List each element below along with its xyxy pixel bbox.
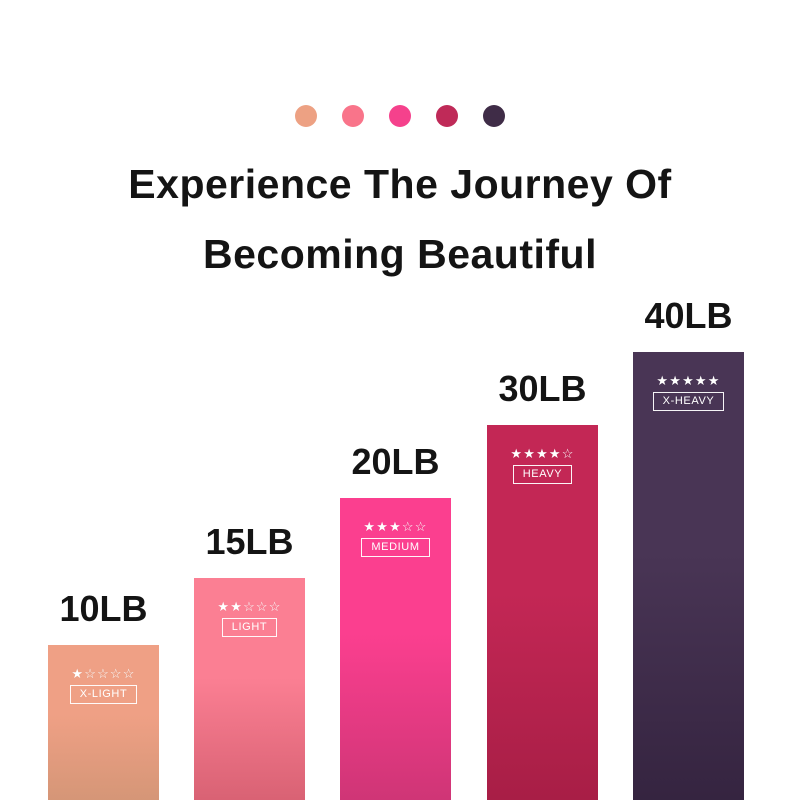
bar-15lb-fill <box>194 578 305 800</box>
resistance-bar-chart: ★☆☆☆☆X-LIGHT10LB★★☆☆☆LIGHT15LB★★★☆☆MEDIU… <box>0 0 800 800</box>
bar-10lb-weight-label: 10LB <box>48 588 159 630</box>
bar-20lb-weight-label: 20LB <box>340 441 451 483</box>
bar-10lb-fill <box>48 645 159 800</box>
bar-10lb[interactable]: ★☆☆☆☆X-LIGHT <box>48 645 159 800</box>
bar-30lb[interactable]: ★★★★☆HEAVY <box>487 425 598 800</box>
bar-15lb-weight-label: 15LB <box>194 521 305 563</box>
resistance-band-poster: Experience The Journey Of Becoming Beaut… <box>0 0 800 800</box>
bar-30lb-fill <box>487 425 598 800</box>
bar-15lb[interactable]: ★★☆☆☆LIGHT <box>194 578 305 800</box>
bar-20lb-fill <box>340 498 451 800</box>
bar-40lb-weight-label: 40LB <box>633 295 744 337</box>
bar-40lb[interactable]: ★★★★★X-HEAVY <box>633 352 744 800</box>
bar-30lb-weight-label: 30LB <box>487 368 598 410</box>
bar-40lb-fill <box>633 352 744 800</box>
bar-20lb[interactable]: ★★★☆☆MEDIUM <box>340 498 451 800</box>
